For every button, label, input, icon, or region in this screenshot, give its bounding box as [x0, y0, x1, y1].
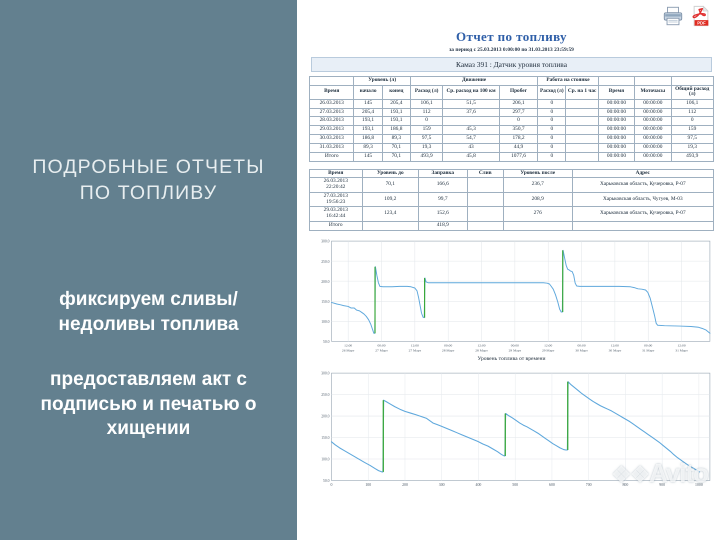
table-cell-6: 0 — [538, 152, 566, 161]
svg-text:150.0: 150.0 — [321, 300, 329, 304]
report-panel: PDF Отчет по топливу за период с 25.03.2… — [303, 0, 720, 540]
refuel-cell-4: 276 — [503, 207, 572, 222]
table-cell-7 — [566, 135, 598, 144]
svg-text:50.0: 50.0 — [323, 479, 330, 483]
svg-text:400: 400 — [476, 483, 482, 487]
svg-text:28 Март: 28 Март — [475, 348, 488, 352]
table-cell-3: 19,3 — [410, 143, 442, 152]
table-row: 29.03.2013193,1186,815945,3350,7000:00:0… — [310, 126, 714, 135]
refuel-cell-4 — [503, 221, 572, 230]
table-cell-3: 493,9 — [410, 152, 442, 161]
refuel-cell-1 — [362, 221, 419, 230]
col-level-end: конец — [382, 85, 410, 99]
table-cell-5: 178,2 — [499, 135, 537, 144]
table-cell-0: 30.03.2013 — [310, 135, 354, 144]
table-cell-5: 350,7 — [499, 126, 537, 135]
svg-text:0: 0 — [331, 483, 333, 487]
svg-text:12:00: 12:00 — [678, 343, 686, 347]
svg-text:12:00: 12:00 — [344, 343, 352, 347]
table-cell-9: 00:00:00 — [635, 152, 671, 161]
svg-text:00:00: 00:00 — [377, 343, 385, 347]
svg-text:50.0: 50.0 — [323, 340, 330, 344]
table-row: 28.03.2013193,1193,100000:00:0000:00:000 — [310, 117, 714, 126]
group-blank-3 — [635, 77, 671, 86]
group-idle: Работа на стоянке — [538, 77, 599, 86]
refuel-cell-3 — [467, 221, 503, 230]
table-cell-4 — [443, 117, 500, 126]
refuel-cell-3 — [467, 178, 503, 193]
refuel-cell-5 — [572, 221, 713, 230]
refuel-cell-0: Итого — [310, 221, 363, 230]
table-cell-8: 00:00:00 — [598, 126, 634, 135]
svg-text:300: 300 — [439, 483, 445, 487]
table-cell-0: 29.03.2013 — [310, 126, 354, 135]
svg-text:1000: 1000 — [695, 483, 703, 487]
table-cell-3: 97,5 — [410, 135, 442, 144]
svg-text:PDF: PDF — [697, 21, 706, 26]
print-icon-svg — [662, 5, 684, 27]
svg-text:00:00: 00:00 — [644, 343, 652, 347]
svg-text:250.0: 250.0 — [321, 259, 329, 263]
col-address: Адрес — [572, 169, 713, 178]
table-cell-8: 00:00:00 — [598, 117, 634, 126]
promo-heading: ПОДРОБНЫЕ ОТЧЕТЫ ПО ТОПЛИВУ — [14, 155, 283, 206]
table-cell-4: 37,6 — [443, 108, 500, 117]
refuel-cell-0: 27.03.201319:56:23 — [310, 192, 363, 207]
svg-text:100: 100 — [365, 483, 371, 487]
table-cell-10: 493,9 — [671, 152, 714, 161]
fuel-level-distance-svg: 50.0100.0150.0200.0250.0300.001002003004… — [309, 368, 714, 493]
svg-text:150.0: 150.0 — [321, 437, 329, 441]
table-cell-7 — [566, 143, 598, 152]
col-event-time: Время — [310, 169, 363, 178]
table-cell-10: 112 — [671, 108, 714, 117]
col-move-consumption: Расход (л) — [410, 85, 442, 99]
table-cell-0: 28.03.2013 — [310, 117, 354, 126]
col-engine-hours: Моточасы — [635, 85, 671, 99]
svg-text:300.0: 300.0 — [321, 239, 329, 243]
table-cell-1: 205,4 — [354, 108, 382, 117]
refuel-cell-2: 152,6 — [419, 207, 467, 222]
fuel-level-time-svg: 50.0100.0150.0200.0250.0300.012:0026 Мар… — [309, 237, 714, 358]
svg-text:00:00: 00:00 — [511, 343, 519, 347]
report-toolbar: PDF — [662, 5, 712, 27]
refuel-events-table: Время Уровень до Заправка Слив Уровень п… — [309, 169, 714, 231]
svg-text:27 Март: 27 Март — [375, 348, 388, 352]
col-level-before: Уровень до — [362, 169, 419, 178]
table-cell-6: 0 — [538, 117, 566, 126]
table-cell-2: 193,1 — [382, 117, 410, 126]
table-cell-4: 51,5 — [443, 99, 500, 108]
refuel-cell-0: 26.03.201322:20:42 — [310, 178, 363, 193]
pdf-icon-svg: PDF — [690, 5, 712, 27]
table-cell-8: 00:00:00 — [598, 108, 634, 117]
svg-text:200.0: 200.0 — [321, 279, 329, 283]
refuel-cell-1: 109,2 — [362, 192, 419, 207]
promo-bullet-2: предоставляем акт с подписью и печатью о… — [14, 368, 283, 442]
refuel-cell-4: 208,9 — [503, 192, 572, 207]
pdf-export-icon[interactable]: PDF — [690, 5, 712, 27]
svg-text:29 Март: 29 Март — [509, 348, 522, 352]
table-cell-2: 89,3 — [382, 135, 410, 144]
svg-text:800: 800 — [623, 483, 629, 487]
group-blank-2 — [598, 77, 634, 86]
refuel-cell-2: 418,9 — [419, 221, 467, 230]
col-move-avg100: Ср. расход на 100 км — [443, 85, 500, 99]
fuel-summary-body: 26.03.2013145205,4106,151,5206,1000:00:0… — [310, 99, 714, 161]
table-cell-10: 159 — [671, 126, 714, 135]
table-cell-10: 106,1 — [671, 99, 714, 108]
refuel-cell-5: Харьковская область, Кучеровка, Р-07 — [572, 207, 713, 222]
table-cell-7 — [566, 108, 598, 117]
table-cell-8: 00:00:00 — [598, 99, 634, 108]
table-cell-7 — [566, 99, 598, 108]
svg-text:300.0: 300.0 — [321, 372, 329, 376]
col-time: Время — [310, 85, 354, 99]
table-cell-2: 186,8 — [382, 126, 410, 135]
group-level: Уровень (л) — [354, 77, 411, 86]
svg-text:600: 600 — [549, 483, 555, 487]
table-cell-3: 112 — [410, 108, 442, 117]
svg-text:900: 900 — [659, 483, 665, 487]
slide-root: ПОДРОБНЫЕ ОТЧЕТЫ ПО ТОПЛИВУ фиксируем сл… — [0, 0, 720, 540]
table-cell-2: 193,1 — [382, 108, 410, 117]
promo-bullet-1: фиксируем сливы/ недоливы топлива — [14, 288, 283, 337]
svg-text:100.0: 100.0 — [321, 320, 329, 324]
group-movement: Движение — [410, 77, 537, 86]
table-cell-9: 00:00:00 — [635, 108, 671, 117]
table-group-header-row: Уровень (л) Движение Работа на стоянке — [310, 77, 714, 86]
table-row: 26.03.2013145205,4106,151,5206,1000:00:0… — [310, 99, 714, 108]
report-period: за период с 25.03.2013 0:00:00 по 31.03.… — [309, 45, 714, 53]
chart1-caption: Уровень топлива от времени — [309, 356, 714, 362]
col-idle-avg-hour: Ср. на 1 час — [566, 85, 598, 99]
refuel-cell-4: 236,7 — [503, 178, 572, 193]
table-cell-9: 00:00:00 — [635, 99, 671, 108]
svg-text:30 Март: 30 Март — [609, 348, 622, 352]
table-cell-7 — [566, 117, 598, 126]
svg-text:100.0: 100.0 — [321, 458, 329, 462]
refuel-cell-1: 123,4 — [362, 207, 419, 222]
table-cell-7 — [566, 126, 598, 135]
table-cell-6: 0 — [538, 135, 566, 144]
refuel-cell-0: 29.03.201316:42:44 — [310, 207, 363, 222]
table-row: 29.03.201316:42:44123,4152,6276Харьковск… — [310, 207, 714, 222]
svg-text:200: 200 — [402, 483, 408, 487]
table-cell-10: 19,3 — [671, 143, 714, 152]
table-cell-9: 00:00:00 — [635, 126, 671, 135]
table-cell-8: 00:00:00 — [598, 143, 634, 152]
table-cell-5: 1077,6 — [499, 152, 537, 161]
refuel-cell-3 — [467, 192, 503, 207]
table-cell-10: 0 — [671, 117, 714, 126]
svg-text:00:00: 00:00 — [577, 343, 585, 347]
table-cell-4: 43 — [443, 143, 500, 152]
fuel-level-distance-chart: 50.0100.0150.0200.0250.0300.001002003004… — [309, 368, 714, 493]
table-cell-8: 00:00:00 — [598, 152, 634, 161]
table-cell-6: 0 — [538, 143, 566, 152]
svg-text:12:00: 12:00 — [411, 343, 419, 347]
svg-text:31 Март: 31 Март — [675, 348, 688, 352]
col-idle-consumption: Расход (л) — [538, 85, 566, 99]
refuel-cell-3 — [467, 207, 503, 222]
table-cell-5: 44,9 — [499, 143, 537, 152]
refuel-cell-5: Харьковская область, Чугуев, М-03 — [572, 192, 713, 207]
col-level-start: начало — [354, 85, 382, 99]
page-title: Отчет по топливу — [309, 0, 714, 45]
refuel-header-row: Время Уровень до Заправка Слив Уровень п… — [310, 169, 714, 178]
col-mileage: Пробег — [499, 85, 537, 99]
group-blank-4 — [671, 77, 714, 86]
svg-text:200.0: 200.0 — [321, 415, 329, 419]
table-row: 30.03.2013186,889,397,554,7178,2000:00:0… — [310, 135, 714, 144]
table-cell-5: 297,7 — [499, 108, 537, 117]
table-cell-2: 70,1 — [382, 152, 410, 161]
refuel-cell-2: 99,7 — [419, 192, 467, 207]
svg-text:12:00: 12:00 — [611, 343, 619, 347]
table-column-header-row: Время начало конец Расход (л) Ср. расход… — [310, 85, 714, 99]
table-total-row: Итого14570,1493,945,81077,6000:00:0000:0… — [310, 152, 714, 161]
svg-text:26 Март: 26 Март — [342, 348, 355, 352]
table-cell-0: 31.03.2013 — [310, 143, 354, 152]
table-cell-6: 0 — [538, 108, 566, 117]
table-cell-4: 45,3 — [443, 126, 500, 135]
table-row: 31.03.201389,370,119,34344,9000:00:0000:… — [310, 143, 714, 152]
table-cell-3: 0 — [410, 117, 442, 126]
svg-text:27 Март: 27 Март — [409, 348, 422, 352]
fuel-summary-table: Уровень (л) Движение Работа на стоянке В… — [309, 76, 714, 162]
table-row: 27.03.2013205,4193,111237,6297,7000:00:0… — [310, 108, 714, 117]
refuel-cell-1: 70,1 — [362, 178, 419, 193]
table-cell-5: 206,1 — [499, 99, 537, 108]
table-cell-2: 70,1 — [382, 143, 410, 152]
table-row: 26.03.201322:20:4270,1166,6236,7Харьковс… — [310, 178, 714, 193]
table-cell-2: 205,4 — [382, 99, 410, 108]
svg-text:12:00: 12:00 — [544, 343, 552, 347]
table-cell-0: 26.03.2013 — [310, 99, 354, 108]
report-object-line: Камаз 391 : Датчик уровня топлива — [311, 57, 712, 72]
svg-text:29 Март: 29 Март — [542, 348, 555, 352]
svg-text:12:00: 12:00 — [477, 343, 485, 347]
fuel-level-time-chart: 50.0100.0150.0200.0250.0300.012:0026 Мар… — [309, 237, 714, 363]
group-blank-1 — [310, 77, 354, 86]
svg-text:28 Март: 28 Март — [442, 348, 455, 352]
svg-text:250.0: 250.0 — [321, 394, 329, 398]
table-cell-1: 145 — [354, 99, 382, 108]
svg-text:31 Март: 31 Март — [642, 348, 655, 352]
svg-text:00:00: 00:00 — [444, 343, 452, 347]
table-cell-0: 27.03.2013 — [310, 108, 354, 117]
refuel-cell-2: 166,6 — [419, 178, 467, 193]
refuel-events-body: 26.03.201322:20:4270,1166,6236,7Харьковс… — [310, 178, 714, 230]
col-refuel: Заправка — [419, 169, 467, 178]
table-total-row: Итого418,9 — [310, 221, 714, 230]
table-cell-1: 193,1 — [354, 117, 382, 126]
table-cell-4: 54,7 — [443, 135, 500, 144]
table-cell-4: 45,8 — [443, 152, 500, 161]
svg-text:30 Март: 30 Март — [575, 348, 588, 352]
table-cell-0: Итого — [310, 152, 354, 161]
col-level-after: Уровень после — [503, 169, 572, 178]
col-drain: Слив — [467, 169, 503, 178]
table-row: 27.03.201319:56:23109,299,7208,9Харьковс… — [310, 192, 714, 207]
svg-text:700: 700 — [586, 483, 592, 487]
table-cell-1: 193,1 — [354, 126, 382, 135]
col-total-consumption: Общий расход (л) — [671, 85, 714, 99]
table-cell-10: 97,5 — [671, 135, 714, 144]
svg-text:500: 500 — [512, 483, 518, 487]
refuel-cell-5: Харьковская область, Кучеровка, Р-07 — [572, 178, 713, 193]
table-cell-7 — [566, 152, 598, 161]
table-cell-3: 106,1 — [410, 99, 442, 108]
table-cell-9: 00:00:00 — [635, 117, 671, 126]
table-cell-9: 00:00:00 — [635, 135, 671, 144]
table-cell-3: 159 — [410, 126, 442, 135]
print-icon[interactable] — [662, 5, 684, 27]
table-cell-9: 00:00:00 — [635, 143, 671, 152]
table-cell-1: 89,3 — [354, 143, 382, 152]
col-idle-time: Время — [598, 85, 634, 99]
table-cell-6: 0 — [538, 126, 566, 135]
table-cell-6: 0 — [538, 99, 566, 108]
promo-panel: ПОДРОБНЫЕ ОТЧЕТЫ ПО ТОПЛИВУ фиксируем сл… — [0, 0, 297, 540]
table-cell-1: 145 — [354, 152, 382, 161]
table-cell-5: 0 — [499, 117, 537, 126]
table-cell-1: 186,8 — [354, 135, 382, 144]
table-cell-8: 00:00:00 — [598, 135, 634, 144]
